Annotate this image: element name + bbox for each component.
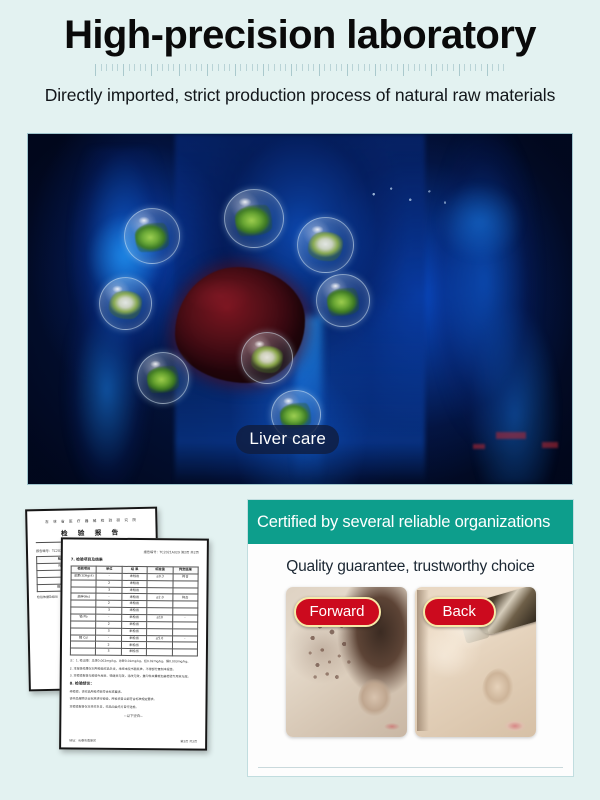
ruler-tick bbox=[162, 64, 163, 71]
before-photo-card: Forward bbox=[286, 587, 407, 737]
ruler-tick bbox=[201, 64, 202, 71]
ruler-tick bbox=[431, 64, 432, 76]
ruler-tick bbox=[442, 64, 443, 71]
ruler-tick bbox=[218, 64, 219, 71]
herb-bubble-icon bbox=[316, 274, 369, 327]
ruler-tick bbox=[285, 64, 286, 71]
doc-table-front: 检验项目 单位 结 果 标准值 判定结果 总汞(以Hg计) - 未检出 ≤0.3… bbox=[70, 565, 199, 656]
hero-red-marker bbox=[496, 432, 526, 439]
lip-shape bbox=[382, 722, 401, 731]
doc-conclusion: 本检验报告仅对来样负责，样品由委托方自行送检。 bbox=[69, 704, 197, 710]
ruler-tick bbox=[447, 64, 448, 71]
after-photo-card: Back bbox=[415, 587, 536, 737]
doc-footer-right: 第2页 共2页 bbox=[180, 739, 197, 743]
doc-meta: 报告编号：TC2021A029 第2页 共2页 bbox=[71, 548, 199, 554]
cell bbox=[70, 648, 95, 655]
hero-red-marker bbox=[542, 442, 558, 448]
before-after-photo-row: Forward Back bbox=[248, 587, 573, 737]
doc-table-body: 总汞(以Hg计) - 未检出 ≤0.3 符合 2 未检出 3 未检出 bbox=[70, 573, 198, 656]
ruler-tick bbox=[453, 64, 454, 71]
cell bbox=[172, 649, 197, 656]
ruler-tick bbox=[503, 64, 504, 71]
ruler-tick bbox=[380, 64, 381, 71]
ruler-tick bbox=[95, 64, 96, 76]
ruler-tick bbox=[112, 64, 113, 71]
back-badge: Back bbox=[423, 597, 496, 627]
ruler-tick bbox=[129, 64, 130, 71]
ruler-tick bbox=[235, 64, 236, 76]
ruler-tick bbox=[319, 64, 320, 76]
ruler-tick bbox=[185, 64, 186, 71]
ruler-tick bbox=[268, 64, 269, 71]
ruler-tick bbox=[207, 64, 208, 76]
ruler-tick bbox=[308, 64, 309, 71]
cell bbox=[147, 649, 172, 656]
ruler-tick bbox=[313, 64, 314, 71]
ruler-tick bbox=[391, 64, 392, 71]
ruler-tick bbox=[498, 64, 499, 71]
ruler-tick bbox=[481, 64, 482, 71]
herb-bubble-icon bbox=[297, 217, 354, 274]
doc-end-mark: --以下空白-- bbox=[69, 713, 197, 719]
certificate-documents: 吉 林 省 医 疗 器 械 检 验 研 究 院 检 验 报 告 报告编号：TC2… bbox=[27, 500, 237, 765]
test-report-document-front: 报告编号：TC2021A029 第2页 共2页 7. 检验项目及结果 检验项目 … bbox=[59, 537, 209, 750]
ruler-tick bbox=[302, 64, 303, 71]
ruler-tick bbox=[151, 64, 152, 76]
ruler-tick bbox=[492, 64, 493, 71]
doc-footer-left: 地址：长春市高新区 bbox=[69, 738, 96, 742]
table-row: 3 未检出 bbox=[70, 648, 197, 656]
ruler-ticks-icon bbox=[95, 64, 505, 78]
page-title: High-precision laboratory bbox=[0, 14, 600, 56]
ruler-tick bbox=[246, 64, 247, 71]
certification-panel: Certified by several reliable organizati… bbox=[248, 500, 573, 776]
hero-image: Liver care bbox=[27, 133, 573, 485]
ruler-tick bbox=[157, 64, 158, 71]
ruler-tick bbox=[475, 64, 476, 71]
certification-banner: Certified by several reliable organizati… bbox=[248, 500, 573, 544]
ruler-tick bbox=[352, 64, 353, 71]
lip-shape bbox=[502, 719, 529, 733]
doc-note: 3. 本检验报告无检验专用章、骑缝章无效，涂改无效，复印件未重新加盖检验专用章无… bbox=[70, 674, 198, 680]
doc-note: 注：1. 检出限：总汞0.002mg/kg，总砷0.01mg/kg，铅0.02m… bbox=[70, 659, 198, 665]
ruler-tick bbox=[117, 64, 118, 71]
ruler-tick bbox=[364, 64, 365, 71]
ruler-tick bbox=[212, 64, 213, 71]
ruler-tick bbox=[263, 64, 264, 76]
ruler-tick bbox=[257, 64, 258, 71]
ruler-tick bbox=[341, 64, 342, 71]
ruler-tick bbox=[179, 64, 180, 76]
ruler-tick bbox=[296, 64, 297, 71]
ruler-tick bbox=[330, 64, 331, 71]
herb-bubble-icon bbox=[124, 208, 181, 265]
ruler-tick bbox=[487, 64, 488, 76]
ruler-tick bbox=[123, 64, 124, 76]
doc-conclusion-title: 8. 检验结论： bbox=[70, 680, 198, 687]
doc-section-title: 7. 检验项目及结果 bbox=[71, 556, 199, 563]
ruler-tick bbox=[425, 64, 426, 71]
page-subtitle: Directly imported, strict production pro… bbox=[0, 85, 600, 106]
cell: 未检出 bbox=[121, 649, 146, 656]
ruler-tick bbox=[229, 64, 230, 71]
ruler-tick bbox=[386, 64, 387, 71]
ruler-tick bbox=[224, 64, 225, 71]
ruler-tick bbox=[397, 64, 398, 71]
doc-conclusion: 经检验，该样品所检项目符合标准要求。 bbox=[70, 689, 198, 695]
ruler-tick bbox=[436, 64, 437, 71]
ruler-tick bbox=[375, 64, 376, 76]
cell: 3 bbox=[96, 648, 121, 655]
ruler-tick bbox=[403, 64, 404, 76]
herb-bubble-icon bbox=[241, 332, 293, 384]
ruler-tick bbox=[106, 64, 107, 71]
forward-badge: Forward bbox=[294, 597, 381, 627]
ruler-tick bbox=[173, 64, 174, 71]
nose-shape bbox=[482, 668, 518, 713]
ruler-tick bbox=[336, 64, 337, 71]
nose-shape bbox=[358, 677, 399, 722]
doc-org-name: 吉 林 省 医 疗 器 械 检 验 研 究 院 bbox=[35, 518, 147, 525]
ruler-tick bbox=[324, 64, 325, 71]
ruler-tick bbox=[145, 64, 146, 71]
ruler-tick bbox=[414, 64, 415, 71]
doc-conclusion: 该样品按照企业标准进行检验，所检项目全部符合标准规定要求。 bbox=[69, 697, 197, 703]
herb-bubble-icon bbox=[137, 352, 189, 404]
ruler-tick bbox=[347, 64, 348, 76]
ruler-tick bbox=[470, 64, 471, 71]
ruler-tick bbox=[464, 64, 465, 71]
ruler-tick bbox=[168, 64, 169, 71]
liver-care-label: Liver care bbox=[236, 425, 339, 454]
ruler-tick bbox=[101, 64, 102, 71]
ruler-tick bbox=[459, 64, 460, 76]
doc-footer: 地址：长春市高新区 第2页 共2页 bbox=[69, 738, 197, 743]
ruler-tick bbox=[291, 64, 292, 76]
hero-red-marker bbox=[473, 444, 485, 449]
herb-bubble-icon bbox=[224, 189, 284, 249]
certification-subheading: Quality guarantee, trustworthy choice bbox=[248, 544, 573, 587]
particle-dots-icon bbox=[365, 183, 452, 211]
page-header: High-precision laboratory Directly impor… bbox=[0, 0, 600, 106]
ruler-tick bbox=[140, 64, 141, 71]
ruler-tick bbox=[358, 64, 359, 71]
ruler-tick bbox=[274, 64, 275, 71]
ruler-tick bbox=[134, 64, 135, 71]
doc-note: 2. 本报告结果仅对所检验样品负责，未经本院书面批准，不得部分复制本报告。 bbox=[70, 666, 198, 672]
herb-bubble-icon bbox=[99, 277, 152, 330]
ruler-tick bbox=[196, 64, 197, 71]
ruler-tick bbox=[369, 64, 370, 71]
panel-bottom-divider bbox=[258, 767, 563, 768]
ruler-tick bbox=[419, 64, 420, 71]
ruler-tick bbox=[252, 64, 253, 71]
ruler-tick bbox=[190, 64, 191, 71]
doc-meta-right: 报告编号：TC2021A029 第2页 共2页 bbox=[144, 549, 199, 554]
ruler-tick bbox=[280, 64, 281, 71]
ruler-tick bbox=[240, 64, 241, 71]
ruler-tick bbox=[408, 64, 409, 71]
doc-title: 检 验 报 告 bbox=[36, 526, 148, 538]
